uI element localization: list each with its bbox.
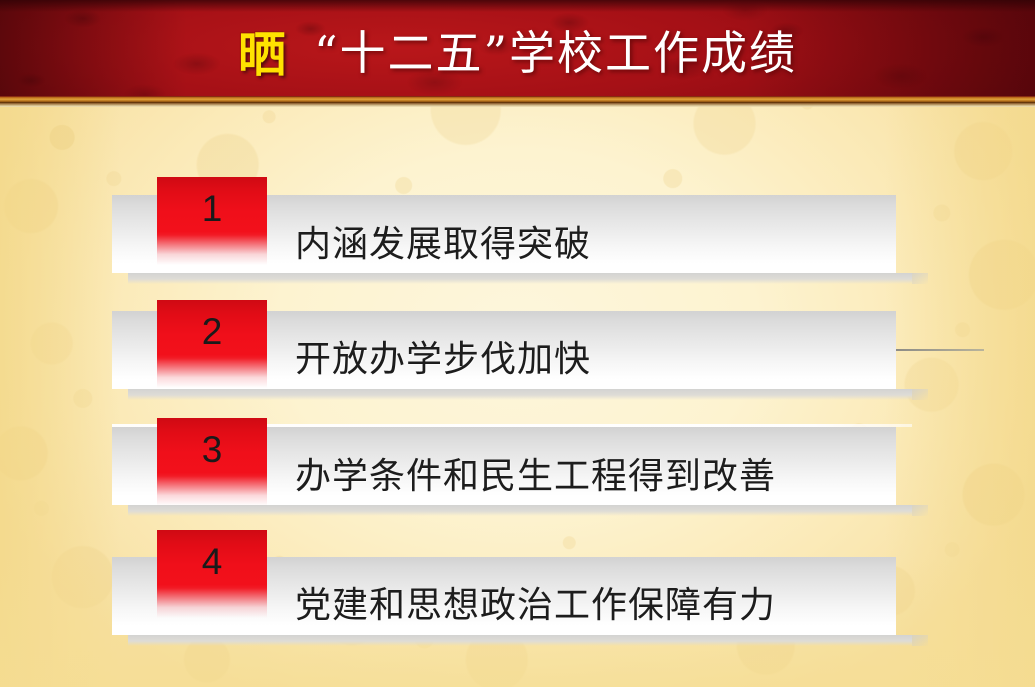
- list-item-number: 1: [157, 183, 267, 235]
- list-item-number-box: 3: [157, 418, 267, 506]
- agenda-list: 1 内涵发展取得突破 2 开放办学步伐加快 3 办学条件和民生工程得到改善: [0, 0, 1035, 687]
- list-item-bar-shadow: [128, 389, 912, 400]
- list-item-label: 党建和思想政治工作保障有力: [295, 576, 776, 628]
- list-item-bar-shadow: [128, 273, 912, 284]
- list-item-number-box: 1: [157, 177, 267, 265]
- list-item-label: 开放办学步伐加快: [295, 330, 591, 382]
- list-item-number-box: 4: [157, 530, 267, 618]
- list-item-label: 内涵发展取得突破: [295, 215, 591, 267]
- list-item-number: 2: [157, 306, 267, 358]
- list-item-number: 3: [157, 424, 267, 476]
- list-item-label: 办学条件和民生工程得到改善: [295, 447, 776, 499]
- list-item-number: 4: [157, 536, 267, 588]
- slide-canvas: 晒 “十二五”学校工作成绩 1 内涵发展取得突破 2 开放办学步伐加快: [0, 0, 1035, 687]
- list-item-bar-shadow: [128, 505, 912, 516]
- right-divider-line: [896, 349, 984, 351]
- list-item-number-box: 2: [157, 300, 267, 388]
- list-item-bar-shadow: [128, 635, 912, 646]
